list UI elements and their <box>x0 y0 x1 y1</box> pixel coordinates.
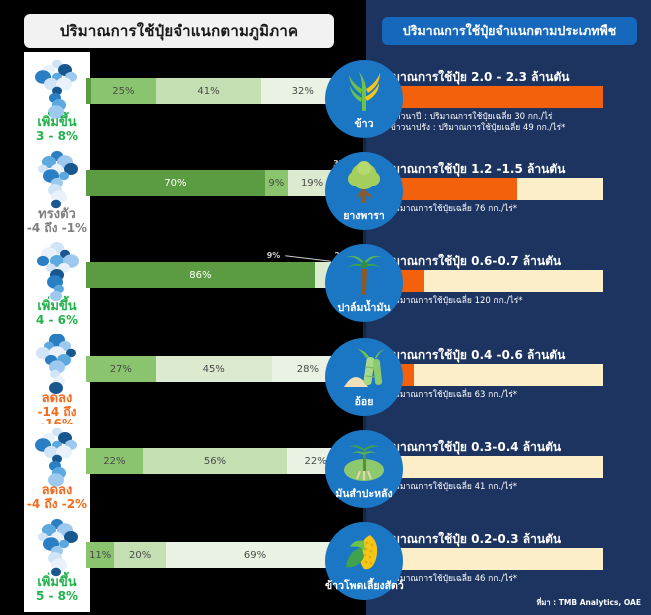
share-segment-callout: 9% <box>267 251 281 260</box>
crop-avg-note: ปริมาณการใช้ปุ๋ยเฉลี่ย 76 กก./ไร่* <box>390 204 517 215</box>
crop-avg-note-line: ปริมาณการใช้ปุ๋ยเฉลี่ย 63 กก./ไร่* <box>390 390 517 401</box>
region-trend-label: เพิ่มขึ้น5 - 8% <box>24 576 90 602</box>
crop-name-label: มันสำปะหลัง <box>325 485 403 502</box>
corn-icon <box>340 529 388 575</box>
cassava-icon <box>340 437 388 483</box>
regional-header-title: ปริมาณการใช้ปุ๋ยจำแนกตามภูมิภาค <box>60 19 298 43</box>
regional-share-bar: 86% <box>86 262 344 288</box>
share-segment: 9% <box>265 170 288 196</box>
crop-avg-note: ข้าวนาปี : ปริมาณการใช้ปุ๋ยเฉลี่ย 30 กก.… <box>390 112 565 135</box>
region-trend-word: เพิ่มขึ้น <box>24 116 90 130</box>
crop-avg-note: ปริมาณการใช้ปุ๋ยเฉลี่ย 120 กก./ไร่* <box>390 296 522 307</box>
region-trend-range: 4 - 6% <box>24 314 90 327</box>
region-trend-range: -4 ถึง -2% <box>24 498 90 511</box>
region-map-strip: เพิ่มขึ้น3 - 8%ทรงตัว-4 ถึง -1%เพิ่มขึ้น… <box>24 52 90 612</box>
region-trend-label: เพิ่มขึ้น4 - 6% <box>24 300 90 326</box>
circle-connector <box>363 230 366 244</box>
regional-share-bar: 25%41%32% <box>86 78 344 104</box>
crop-avg-note-line: ปริมาณการใช้ปุ๋ยเฉลี่ย 120 กก./ไร่* <box>390 296 522 307</box>
sugarcane-icon <box>340 345 388 391</box>
circle-connector <box>363 508 366 522</box>
circle-connector <box>363 416 366 430</box>
crop-name-label: ข้าว <box>325 115 403 132</box>
usage-remainder <box>400 456 603 478</box>
thailand-map-icon <box>31 518 83 580</box>
regional-panel: ปริมาณการใช้ปุ๋ยจำแนกตามภูมิภาค เพิ่มขึ้… <box>0 0 366 615</box>
crop-name-label: ข้าวโพดเลี้ยงสัตว์ <box>325 577 403 594</box>
region-map-cell: ลดลง-14 ถึง -16% <box>24 332 90 425</box>
crop-header-title: ปริมาณการใช้ปุ๋ยจำแนกตามประเภทพืช <box>403 21 616 41</box>
share-segment: 86% <box>86 262 315 288</box>
crop-avg-note: ปริมาณการใช้ปุ๋ยเฉลี่ย 41 กก./ไร่* <box>390 482 517 493</box>
regional-share-bar: 22%56%22% <box>86 448 344 474</box>
circle-connector <box>363 138 366 152</box>
region-trend-label: ลดลง-4 ถึง -2% <box>24 484 90 510</box>
region-trend-range: -4 ถึง -1% <box>24 222 90 235</box>
regional-share-bar: 11%20%69% <box>86 542 344 568</box>
crop-circle[interactable]: ยางพารา <box>325 152 403 230</box>
crop-avg-note-line: ปริมาณการใช้ปุ๋ยเฉลี่ย 41 กก./ไร่* <box>390 482 517 493</box>
usage-remainder <box>424 270 603 292</box>
thailand-map-icon <box>31 242 83 304</box>
usage-remainder <box>414 364 603 386</box>
crop-avg-note-line: ข้าวนาปรัง : ปริมาณการใช้ปุ๋ยเฉลี่ย 49 ก… <box>390 123 565 134</box>
thailand-map-icon <box>31 334 83 396</box>
region-map-cell: ลดลง-4 ถึง -2% <box>24 424 90 517</box>
usage-remainder <box>517 178 603 200</box>
share-segment: 11% <box>86 542 114 568</box>
region-map-cell: เพิ่มขึ้น3 - 8% <box>24 56 90 149</box>
source-note: ที่มา : TMB Analytics, OAE <box>536 597 641 609</box>
crop-avg-note-line: ปริมาณการใช้ปุ๋ยเฉลี่ย 76 กก./ไร่* <box>390 204 517 215</box>
crop-usage-title: ปริมาณการใช้ปุ๋ย 0.3-0.4 ล้านตัน <box>378 438 561 457</box>
share-segment: 22% <box>86 448 143 474</box>
thailand-map-icon <box>31 426 83 488</box>
callout-leader-line <box>285 255 331 262</box>
share-segment: 69% <box>166 542 344 568</box>
crop-panel-header: ปริมาณการใช้ปุ๋ยจำแนกตามประเภทพืช <box>382 17 637 45</box>
region-trend-label: ทรงตัว-4 ถึง -1% <box>24 208 90 234</box>
share-segment: 70% <box>86 170 265 196</box>
region-trend-word: เพิ่มขึ้น <box>24 300 90 314</box>
crop-usage-title: ปริมาณการใช้ปุ๋ย 0.6-0.7 ล้านตัน <box>378 252 561 271</box>
crop-circle[interactable]: มันสำปะหลัง <box>325 430 403 508</box>
regional-share-bar: 27%45%28% <box>86 356 344 382</box>
region-trend-label: เพิ่มขึ้น3 - 8% <box>24 116 90 142</box>
regional-share-bar: 70%9%19% <box>86 170 344 196</box>
crop-circle[interactable]: ข้าว <box>325 60 403 138</box>
rice-icon <box>340 67 388 113</box>
thailand-map-icon <box>31 58 83 120</box>
crop-name-label: ปาล์มน้ำมัน <box>325 299 403 316</box>
crop-usage-title: ปริมาณการใช้ปุ๋ย 0.4 -0.6 ล้านตัน <box>378 346 565 365</box>
thailand-map-icon <box>31 150 83 212</box>
crop-name-label: ยางพารา <box>325 207 403 224</box>
crop-usage-title: ปริมาณการใช้ปุ๋ย 2.0 - 2.3 ล้านตัน <box>378 68 569 87</box>
region-map-cell: เพิ่มขึ้น4 - 6% <box>24 240 90 333</box>
share-segment: 45% <box>156 356 272 382</box>
crop-circle[interactable]: อ้อย <box>325 338 403 416</box>
crop-circle[interactable]: ข้าวโพดเลี้ยงสัตว์ <box>325 522 403 600</box>
share-segment: 56% <box>143 448 287 474</box>
region-trend-word: ทรงตัว <box>24 208 90 222</box>
region-trend-range: 3 - 8% <box>24 130 90 143</box>
crop-panel: ปริมาณการใช้ปุ๋ยจำแนกตามประเภทพืช ปริมาณ… <box>366 0 651 615</box>
crop-avg-note-line: ปริมาณการใช้ปุ๋ยเฉลี่ย 46 กก./ไร่* <box>390 574 517 585</box>
usage-remainder <box>387 548 603 570</box>
oil-palm-icon <box>340 251 388 297</box>
region-map-cell: เพิ่มขึ้น5 - 8% <box>24 516 90 609</box>
circle-connector <box>363 322 366 338</box>
share-segment: 41% <box>156 78 262 104</box>
crop-circle[interactable]: ปาล์มน้ำมัน <box>325 244 403 322</box>
region-trend-word: ลดลง <box>24 392 90 406</box>
crop-avg-note-line: ข้าวนาปี : ปริมาณการใช้ปุ๋ยเฉลี่ย 30 กก.… <box>390 112 565 123</box>
share-segment: 20% <box>114 542 166 568</box>
region-map-cell: ทรงตัว-4 ถึง -1% <box>24 148 90 241</box>
region-trend-range: 5 - 8% <box>24 590 90 603</box>
crop-usage-title: ปริมาณการใช้ปุ๋ย 1.2 -1.5 ล้านตัน <box>378 160 565 179</box>
region-trend-word: เพิ่มขึ้น <box>24 576 90 590</box>
crop-avg-note: ปริมาณการใช้ปุ๋ยเฉลี่ย 63 กก./ไร่* <box>390 390 517 401</box>
region-trend-word: ลดลง <box>24 484 90 498</box>
regional-panel-header: ปริมาณการใช้ปุ๋ยจำแนกตามภูมิภาค <box>24 14 334 48</box>
rubber-tree-icon <box>340 159 388 205</box>
share-segment: 27% <box>86 356 156 382</box>
crop-name-label: อ้อย <box>325 393 403 410</box>
crop-usage-title: ปริมาณการใช้ปุ๋ย 0.2-0.3 ล้านตัน <box>378 530 561 549</box>
share-segment: 25% <box>91 78 156 104</box>
crop-avg-note: ปริมาณการใช้ปุ๋ยเฉลี่ย 46 กก./ไร่* <box>390 574 517 585</box>
